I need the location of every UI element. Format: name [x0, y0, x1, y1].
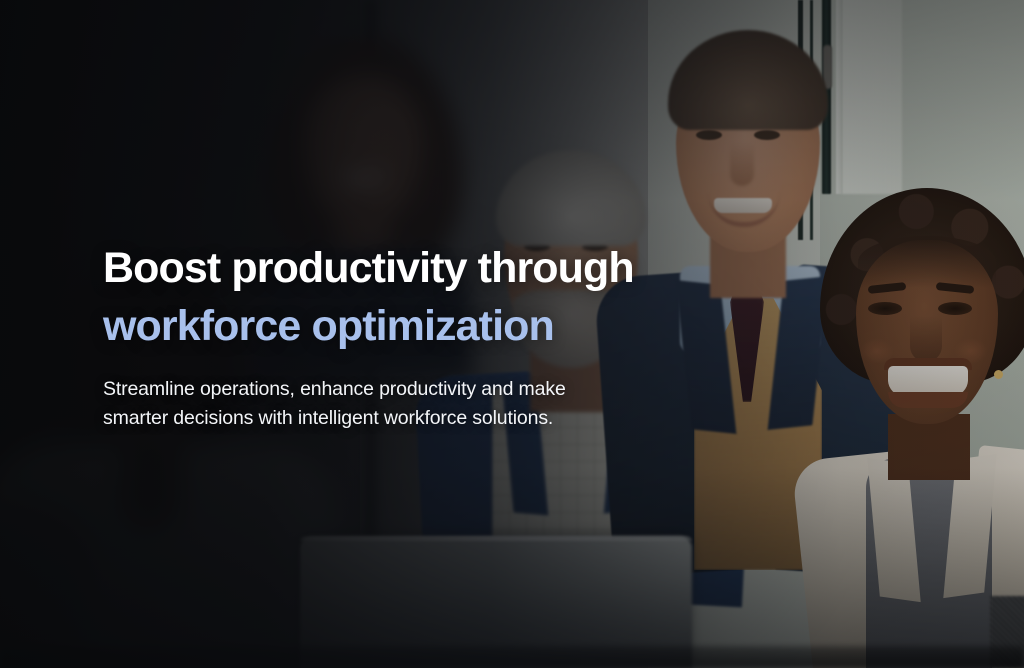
headline-line-2-accent: workforce optimization [103, 297, 863, 355]
headline-line-1: Boost productivity through [103, 239, 863, 297]
hero-section: Boost productivity through workforce opt… [0, 0, 1024, 668]
hero-subtitle: Streamline operations, enhance productiv… [103, 375, 863, 433]
hero-content: Boost productivity through workforce opt… [103, 239, 863, 433]
subtitle-line-1: Streamline operations, enhance productiv… [103, 375, 863, 404]
subtitle-line-2: smarter decisions with intelligent workf… [103, 404, 863, 433]
hero-headline: Boost productivity through workforce opt… [103, 239, 863, 355]
